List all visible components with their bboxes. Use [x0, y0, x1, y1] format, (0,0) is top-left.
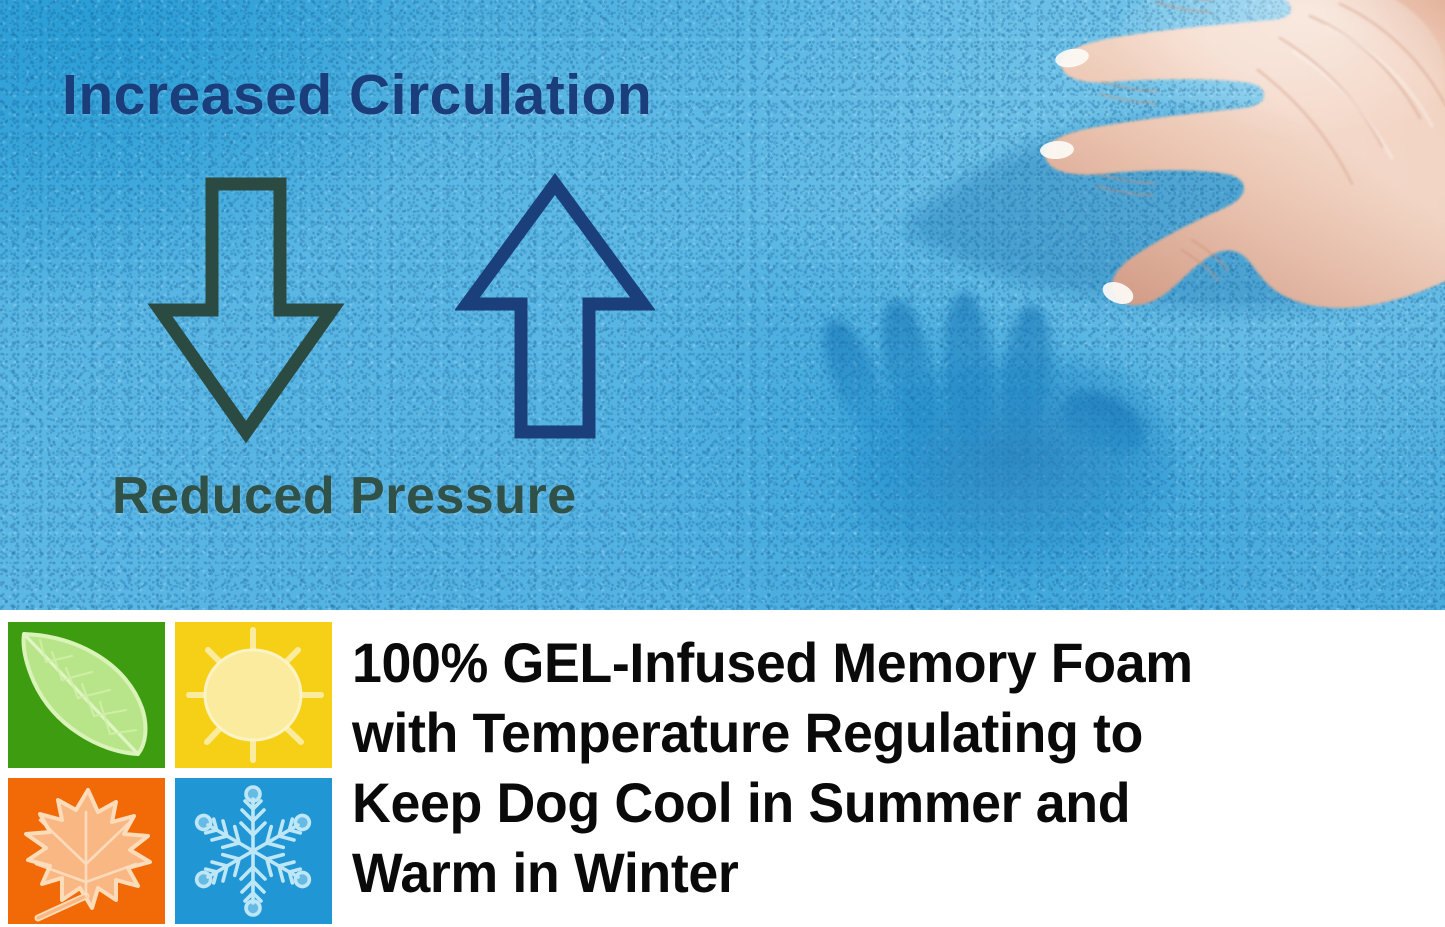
product-description-text: 100% GEL-Infused Memory Foam with Temper… — [352, 628, 1394, 908]
reduced-pressure-arrow — [146, 174, 346, 446]
increased-circulation-arrow — [455, 172, 655, 444]
product-text-line-2: with Temperature Regulating to — [352, 698, 1394, 768]
leaf-icon — [8, 622, 165, 768]
memory-foam-photo: Increased Circulation Reduced Pressure — [0, 0, 1445, 610]
season-tile-spring — [8, 622, 165, 768]
season-tile-summer — [175, 622, 332, 768]
product-description-panel: 100% GEL-Infused Memory Foam with Temper… — [0, 610, 1445, 927]
season-tile-autumn — [8, 778, 165, 924]
snowflake-icon — [175, 778, 332, 924]
caption-reduced-pressure: Reduced Pressure — [112, 466, 577, 526]
season-tile-winter — [175, 778, 332, 924]
product-text-line-4: Warm in Winter — [352, 838, 1394, 908]
hand-photo — [840, 0, 1445, 448]
sun-icon — [175, 622, 332, 768]
product-text-line-3: Keep Dog Cool in Summer and — [352, 768, 1394, 838]
maple-leaf-icon — [8, 778, 165, 924]
product-text-line-1: 100% GEL-Infused Memory Foam — [352, 628, 1394, 698]
product-infographic: Increased Circulation Reduced Pressure — [0, 0, 1445, 927]
four-seasons-icon-grid — [8, 622, 332, 920]
caption-increased-circulation: Increased Circulation — [62, 62, 652, 128]
